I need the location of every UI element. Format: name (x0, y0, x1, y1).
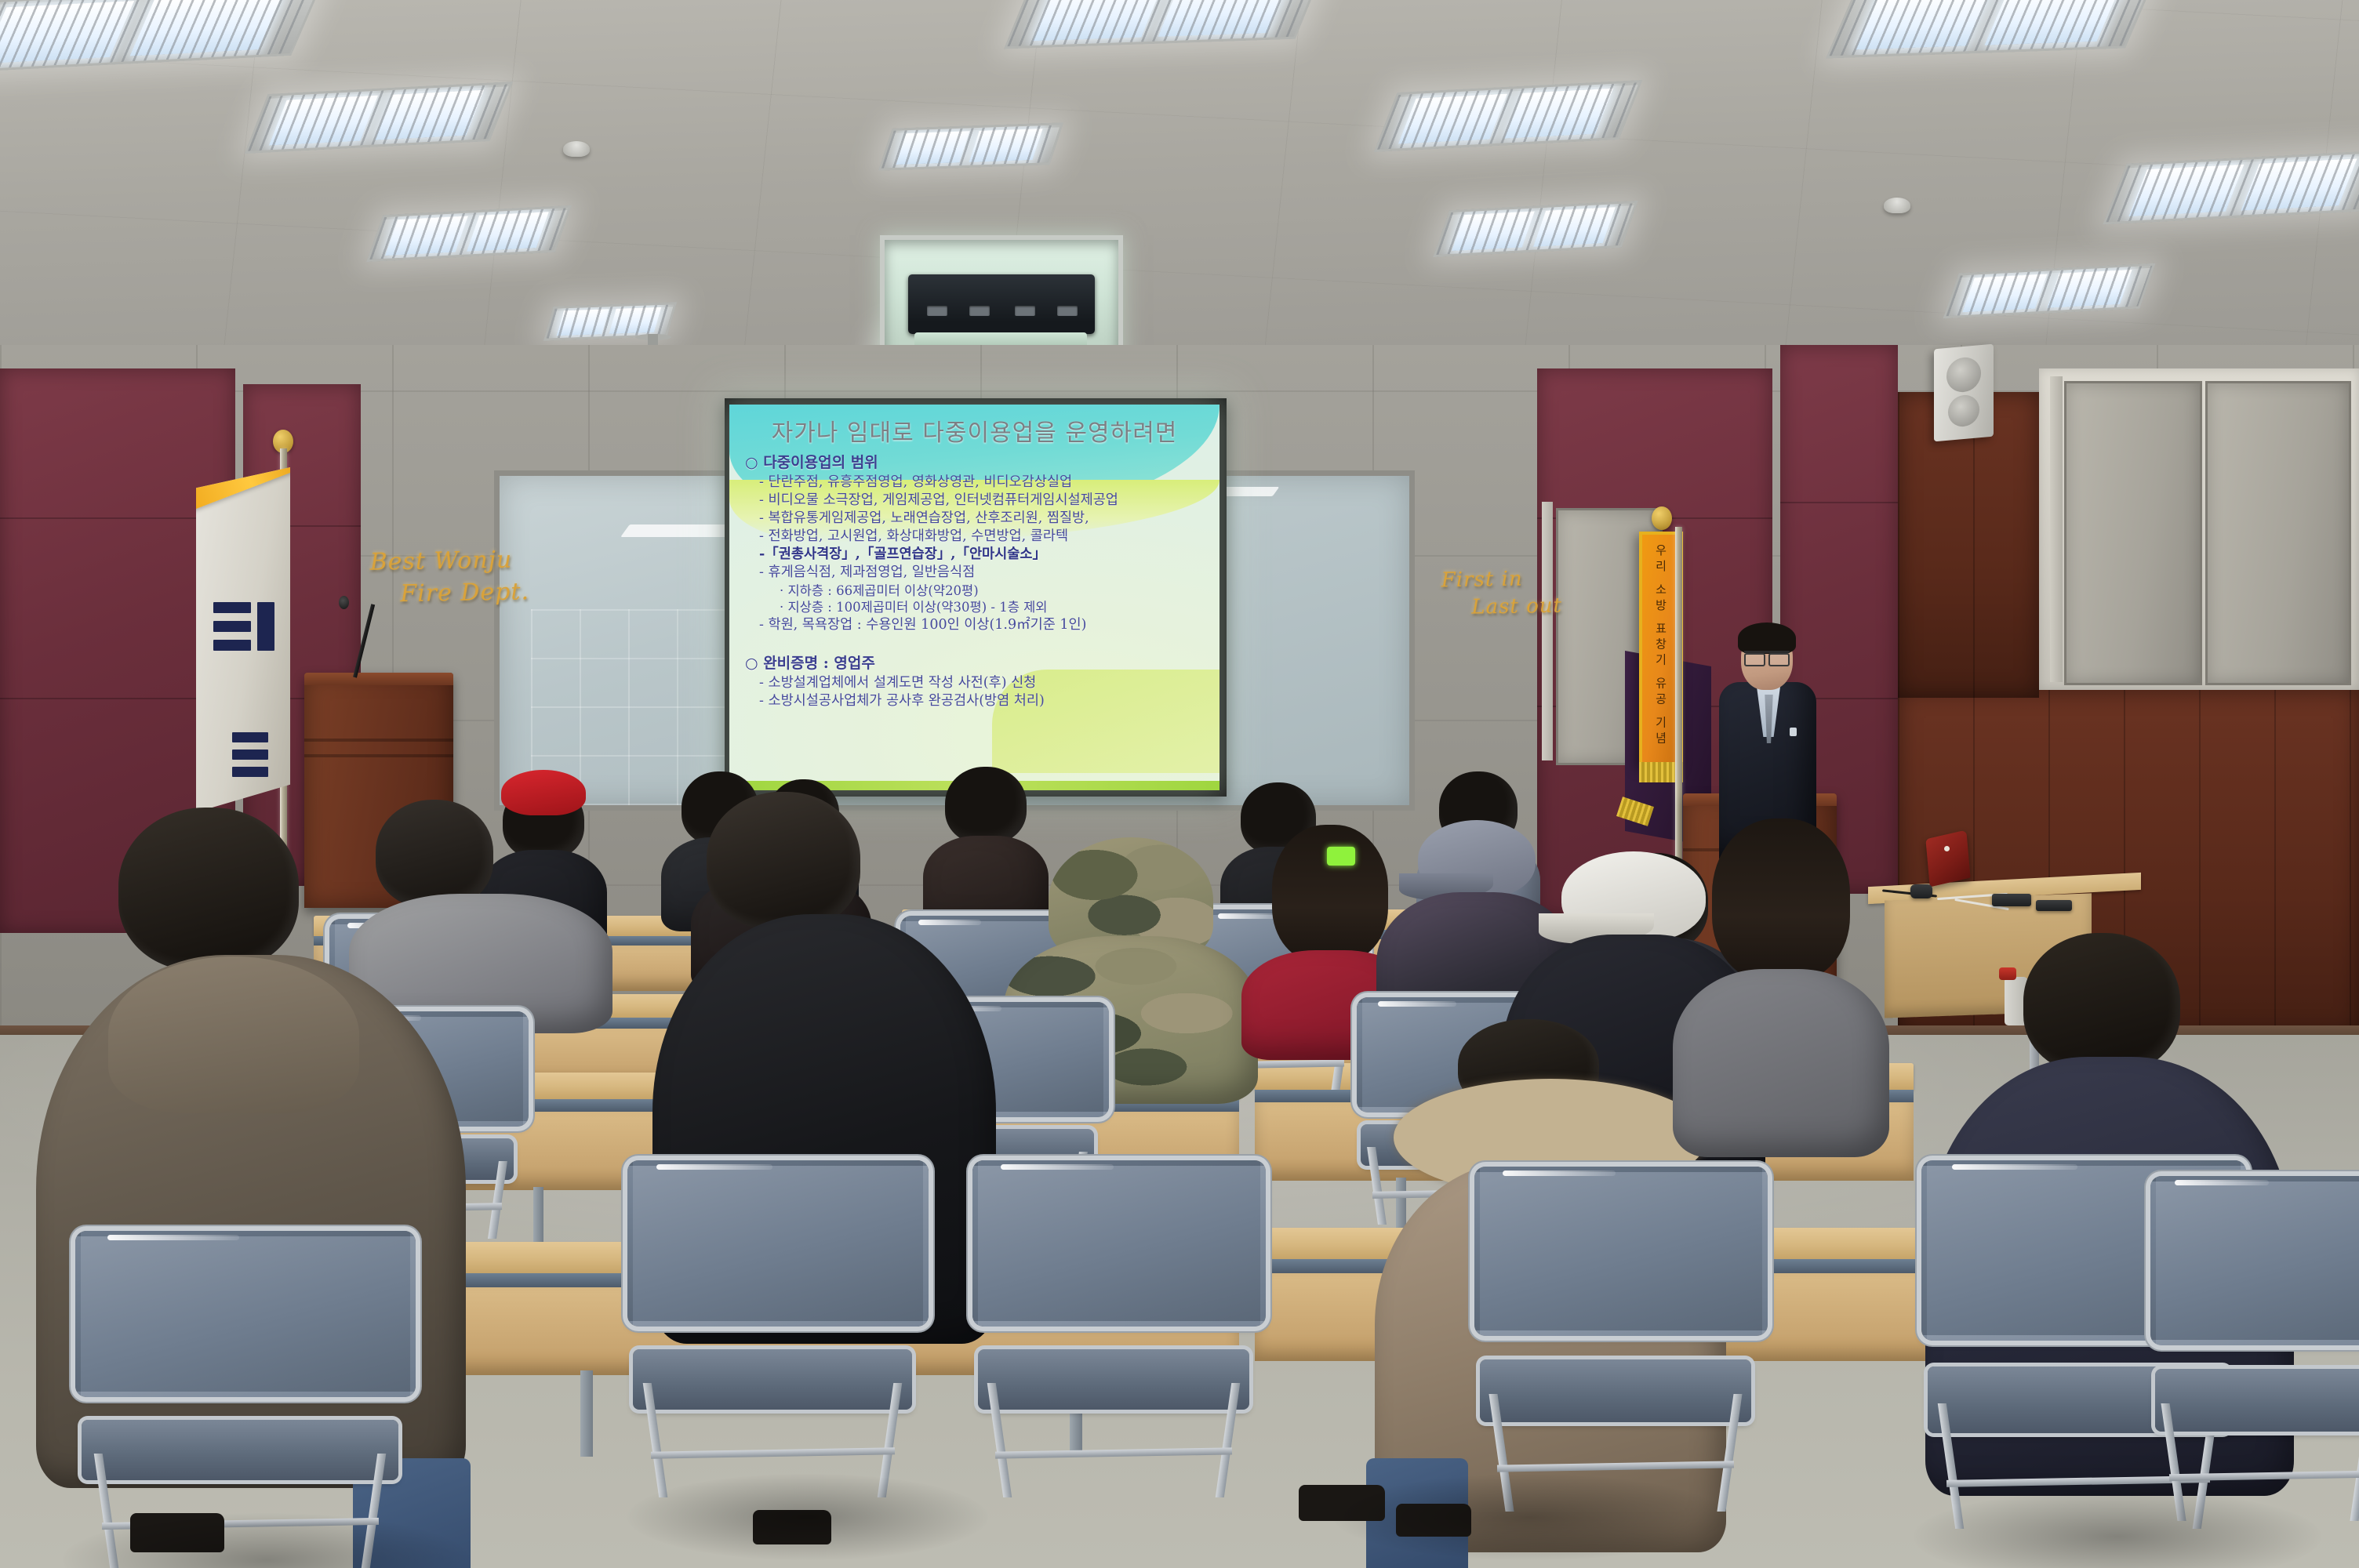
chair[interactable] (627, 1160, 918, 1497)
chair[interactable] (1474, 1167, 1757, 1512)
chair[interactable] (972, 1160, 1255, 1497)
ceiling-light-fixture (878, 122, 1063, 171)
door[interactable] (2205, 381, 2351, 685)
av-device (1910, 884, 1932, 898)
slide-bullet: - 소방시설공사업체가 공사후 완공검사(방염 처리) (759, 692, 1207, 710)
long-hair (1272, 825, 1388, 963)
wall-motto-left: Best Wonju Fire Dept. (369, 544, 529, 611)
banner-text: 우리 소방 표창기 유공 기념 (1653, 544, 1670, 747)
floor-shadow (627, 1474, 988, 1560)
slide-bullet: - 휴게음식점, 제과점영업, 일반음식점 (759, 564, 1207, 582)
slide-bullet: - 단란주점, 유흥주점영업, 영화상영관, 비디오감상실업 (759, 474, 1207, 492)
glasses-icon (1744, 651, 1790, 663)
wall-motto-left-line1: Best Wonju (369, 546, 512, 576)
lecture-room-photo: Best Wonju Fire Dept. First in Last out … (0, 0, 2359, 1568)
slide-bullet: - 전화방업, 고시원업, 화상대화방업, 수면방업, 콜라텍 (759, 528, 1207, 546)
chair[interactable] (2150, 1176, 2359, 1521)
wall-motto-left-line2: Fire Dept. (370, 576, 529, 611)
hair-clip (1327, 847, 1355, 866)
slide-bullet: - 비디오물 소극장업, 게임제공업, 인터넷컴퓨터게임시설제공업 (759, 492, 1207, 510)
av-device (2036, 900, 2072, 911)
door[interactable] (2064, 381, 2202, 685)
hood (108, 956, 359, 1113)
slide-bullet: - 소방설계업체에서 설계도면 작성 사전(후) 신청 (759, 674, 1207, 692)
slide-sub-bullet: · 지상층 : 100제곱미터 이상(약30평) - 1층 제외 (780, 599, 1207, 616)
wall-motto-right-line2: Last out (1441, 593, 1562, 622)
audience-member-long-hair (1675, 818, 1887, 1148)
slide-section-heading-1: ○ 다중이용업의 범위 (745, 451, 1207, 472)
door-frame (2050, 376, 2063, 682)
slide-bullet: - 학원, 목욕장업 : 수용인원 100인 이상(1.9㎡기준 1인) (759, 616, 1207, 634)
presenter-laptop (1928, 834, 1968, 883)
av-device (1992, 894, 2031, 906)
flagpole-finial (1652, 506, 1672, 530)
microphone-capsule (339, 596, 349, 609)
projection-screen: 자가나 임대로 다중이용업을 운영하려면 ○ 다중이용업의 범위 - 단란주점,… (729, 405, 1219, 790)
presenter-hair (1738, 622, 1796, 654)
slide-title: 자가나 임대로 다중이용업을 운영하려면 (742, 420, 1207, 446)
projector-body (908, 274, 1095, 334)
smoke-detector-icon (563, 141, 590, 157)
door-frame (1542, 502, 1553, 760)
projection-screen-frame: 자가나 임대로 다중이용업을 운영하려면 ○ 다중이용업의 범위 - 단란주점,… (725, 398, 1227, 797)
wall-motto-right-line1: First in (1441, 568, 1522, 593)
slide-sub-bullet: · 지하층 : 66제곱미터 이상(약20평) (780, 583, 1207, 600)
south-korea-flag (196, 467, 290, 812)
long-hair (1712, 818, 1850, 982)
slide-content: 자가나 임대로 다중이용업을 운영하려면 ○ 다중이용업의 범위 - 단란주점,… (729, 405, 1219, 790)
presenter-lapel-badge (1790, 728, 1797, 736)
slide-bullet: - 복합유통게임제공업, 노래연습장업, 산후조리원, 찜질방, (759, 510, 1207, 528)
slide-bullet-emphasised: -「권총사격장」,「골프연습장」,「안마시술소」 (759, 546, 1207, 564)
floor-shadow (1333, 1474, 1725, 1560)
slide-section-heading-2: ○ 완비증명 : 영업주 (745, 652, 1207, 673)
pa-speaker-icon (1934, 344, 1994, 442)
wall-motto-right: First in Last out (1441, 565, 1562, 622)
smoke-detector-icon (1884, 198, 1910, 213)
